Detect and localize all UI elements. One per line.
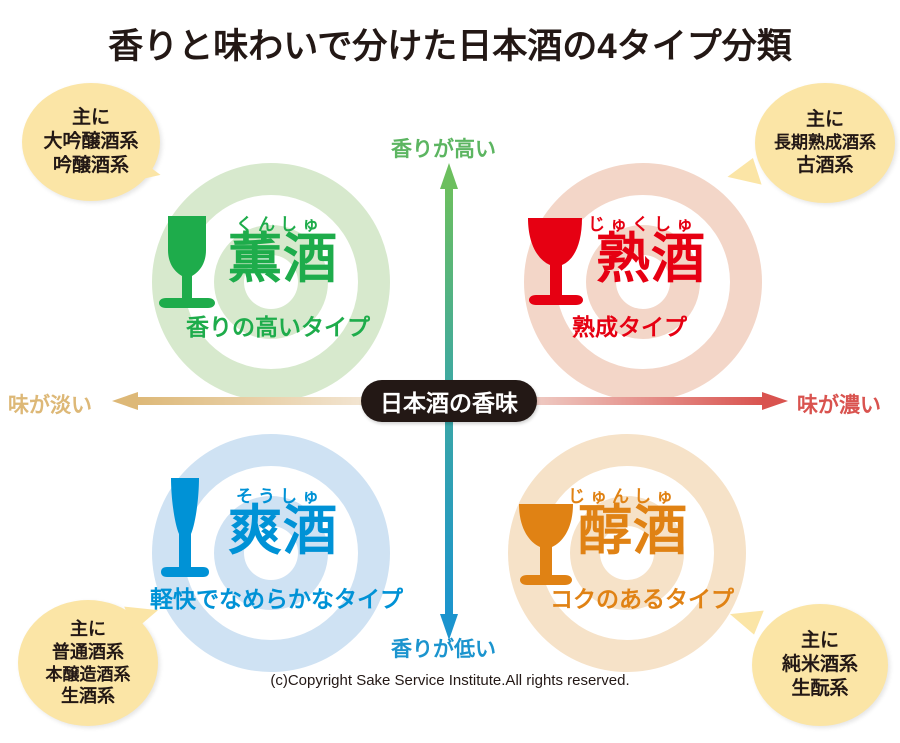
axis-label-aroma-low: 香りが低い <box>391 633 496 663</box>
balloon-glass-icon <box>520 214 590 312</box>
bubble-line-3: 吟醸酒系 <box>53 154 129 178</box>
page-title: 香りと味わいで分けた日本酒の4タイプ分類 <box>0 18 900 69</box>
quadrant-subtitle-kunshu: 香りの高いタイプ <box>186 308 370 342</box>
bubble-line-2: 長期熟成酒系 <box>774 132 876 154</box>
bubble-line-1: 主に <box>801 629 839 653</box>
bubble-line-1: 主に <box>72 106 110 130</box>
callout-bubble-jukushu: 主に 長期熟成酒系 古酒系 <box>755 83 895 203</box>
bubble-line-2: 普通酒系 <box>52 641 124 664</box>
quadrant-subtitle-soushu: 軽快でなめらかなタイプ <box>150 580 403 614</box>
tulip-glass-icon <box>152 212 222 312</box>
wine-glass-icon <box>517 500 581 592</box>
copyright-notice: (c)Copyright Sake Service Institute.All … <box>0 672 900 689</box>
bubble-tail-jukushu <box>724 158 761 194</box>
callout-bubble-junshu: 主に 純米酒系 生酛系 <box>752 604 888 726</box>
bubble-line-3: 古酒系 <box>796 154 853 178</box>
center-label: 日本酒の香味 <box>361 380 537 422</box>
quadrant-subtitle-jukushu: 熟成タイプ <box>572 308 687 342</box>
quadrant-name-kunshu: 薫酒 <box>228 232 338 286</box>
axis-label-taste-light: 味が淡い <box>8 389 92 419</box>
axis-label-aroma-high: 香りが高い <box>391 133 496 163</box>
axis-label-taste-rich: 味が濃い <box>797 389 881 419</box>
flute-glass-icon <box>155 474 215 582</box>
quadrant-subtitle-junshu: コクのあるタイプ <box>550 580 734 614</box>
bubble-line-1: 主に <box>806 108 844 132</box>
quadrant-name-junshu: 醇酒 <box>578 504 688 558</box>
quadrant-name-soushu: 爽酒 <box>228 504 338 558</box>
bubble-line-1: 主に <box>70 618 106 641</box>
sake-classification-diagram: 香りと味わいで分けた日本酒の4タイプ分類 くんしゅ 薫酒 香りの高いタイプ じゅ… <box>0 0 900 743</box>
quadrant-name-jukushu: 熟酒 <box>596 232 706 286</box>
bubble-line-2: 大吟醸酒系 <box>43 130 138 154</box>
